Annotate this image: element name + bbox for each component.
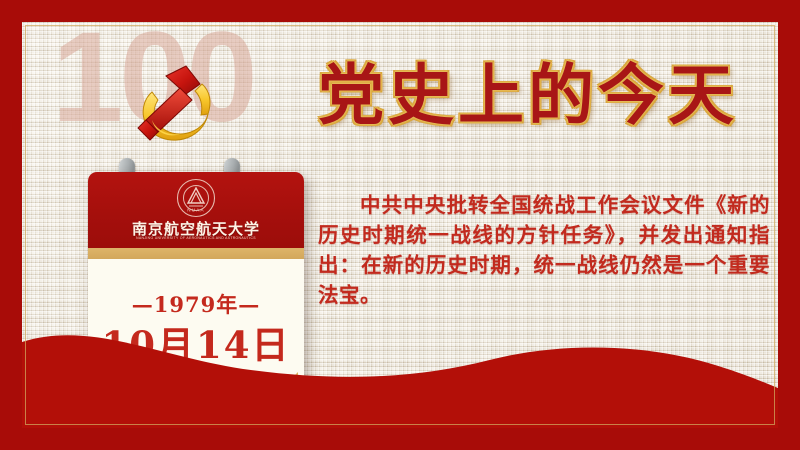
frame-top <box>0 0 800 22</box>
poster-root: 100 <box>0 0 800 450</box>
calendar-header: NUAA 南京航空航天大学 NANJING UNIVERSITY OF AERO… <box>88 172 304 248</box>
svg-text:NUAA: NUAA <box>187 207 205 212</box>
calendar-gold-band <box>88 248 304 259</box>
bottom-red-wave <box>22 308 778 428</box>
cpc-hammer-sickle-emblem <box>122 58 226 150</box>
frame-bottom <box>0 428 800 450</box>
frame-left <box>0 0 22 450</box>
article-body: 中共中央批转全国统战工作会议文件《新的历史时期统一战线的方针任务》，并发出通知指… <box>318 190 770 310</box>
university-name-english: NANJING UNIVERSITY OF AERONAUTICS AND AS… <box>88 236 304 240</box>
frame-right <box>778 0 800 450</box>
page-title: 党史上的今天 <box>318 62 738 128</box>
nuaa-seal-icon: NUAA <box>176 178 216 218</box>
linen-background: 100 <box>22 22 778 428</box>
